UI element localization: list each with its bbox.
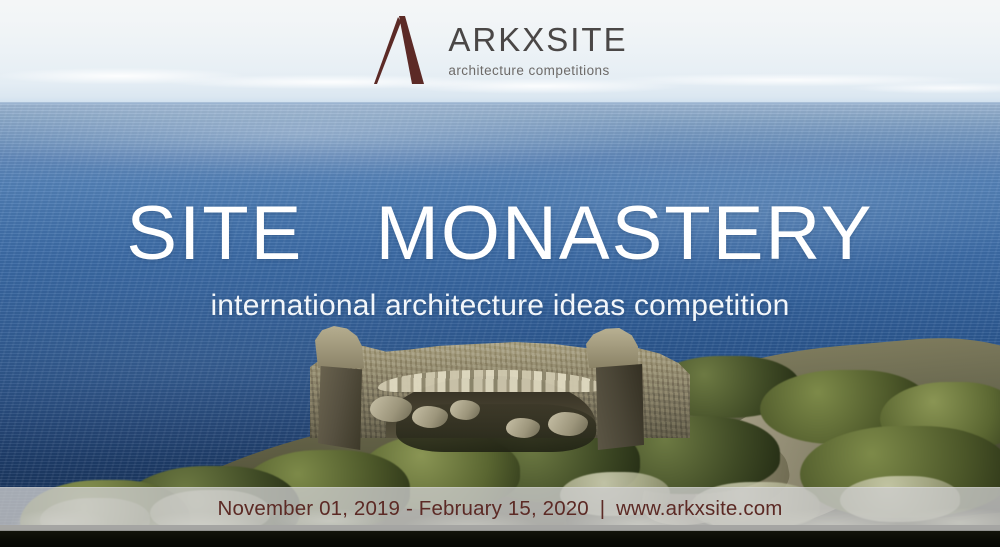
brand-tagline: architecture competitions: [448, 64, 609, 78]
rubble-stone: [548, 412, 588, 436]
brand-wordmark: ARKXSITE: [448, 23, 627, 56]
brand-logo-text: ARKXSITE architecture competitions: [448, 23, 627, 78]
poster-canvas: ARKXSITE architecture competitions SITE …: [0, 0, 1000, 547]
ruin-pier-left: [318, 366, 362, 450]
footer-bar: November 01, 2019 - February 15, 2020 | …: [0, 487, 1000, 531]
poster-header: ARKXSITE architecture competitions: [0, 0, 1000, 104]
brand-logo-lockup[interactable]: ARKXSITE architecture competitions: [372, 15, 627, 85]
ruin-tower-right: [586, 328, 638, 368]
competition-date-range: November 01, 2019 - February 15, 2020: [218, 497, 589, 520]
footer-info: November 01, 2019 - February 15, 2020 | …: [218, 497, 783, 521]
arkxsite-a-mark-icon: [372, 15, 428, 85]
ruin-tower-left: [314, 326, 364, 368]
ruin-pier-right: [596, 364, 644, 450]
rubble-stone: [412, 406, 448, 428]
rubble-stone: [450, 400, 480, 420]
rubble-stone: [370, 396, 412, 422]
footer-separator: |: [595, 497, 610, 520]
competition-website-link[interactable]: www.arkxsite.com: [616, 497, 782, 520]
rubble-stone: [506, 418, 540, 438]
monastery-ruin: [300, 326, 700, 466]
